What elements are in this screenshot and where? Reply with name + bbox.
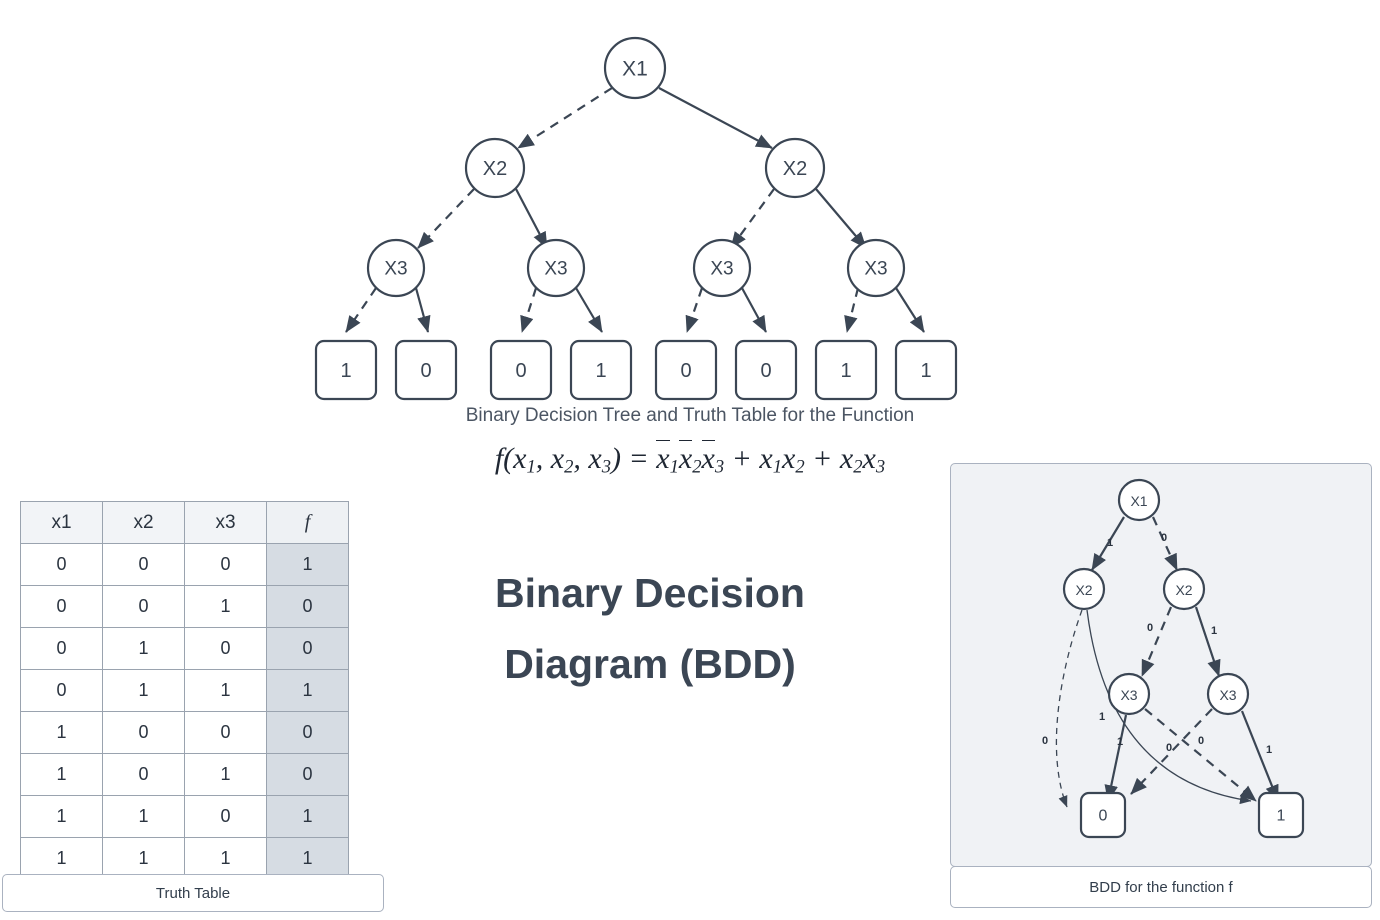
tree-edge-x3-2-leaf-2 xyxy=(522,288,536,332)
tree-edge-x3-4-leaf-6 xyxy=(847,288,858,332)
bdd-node-x1-label: X1 xyxy=(1130,493,1147,509)
bdd-edge-label-x3left-term0: 1 xyxy=(1117,736,1123,748)
tree-leaf-0-label: 1 xyxy=(340,360,351,382)
tree-node-x2-left-label: X2 xyxy=(483,158,507,180)
tree-leaf-4[interactable]: 0 xyxy=(656,341,716,399)
page-title-line-2: Diagram (BDD) xyxy=(420,629,880,700)
bdd-edge-x2right-x3right xyxy=(1196,607,1219,676)
bdd-node-x2-left[interactable]: X2 xyxy=(1064,569,1104,609)
cell-f: 1 xyxy=(267,670,349,712)
tree-leaf-2-label: 0 xyxy=(515,360,526,382)
tree-leaf-4-label: 0 xyxy=(680,360,691,382)
cell-x2: 0 xyxy=(103,754,185,796)
formula-plus-1: + xyxy=(732,442,752,475)
cell-f: 0 xyxy=(267,754,349,796)
cell-x3: 0 xyxy=(185,796,267,838)
cell-f: 1 xyxy=(267,796,349,838)
tree-leaf-5-label: 0 xyxy=(760,360,771,382)
tree-leaf-3-label: 1 xyxy=(595,360,606,382)
table-row: 0 0 0 1 xyxy=(21,544,349,586)
formula-fn: f xyxy=(495,442,503,476)
tree-leaf-7-label: 1 xyxy=(920,360,931,382)
bdd-edge-x2right-x3left xyxy=(1142,607,1171,676)
bdd-node-x2-left-label: X2 xyxy=(1075,582,1092,598)
formula-term3-v1: x2 xyxy=(840,442,863,479)
cell-x2: 0 xyxy=(103,586,185,628)
truth-table-header-x2: x2 xyxy=(103,502,185,544)
tree-edge-x2r-x3-3 xyxy=(731,189,774,248)
truth-table-caption-label: Truth Table xyxy=(156,885,230,902)
cell-x1: 0 xyxy=(21,628,103,670)
cell-x1: 0 xyxy=(21,586,103,628)
tree-edge-x2r-x3-4 xyxy=(816,189,866,248)
bdd-edge-label-x1-x2right: 0 xyxy=(1161,532,1167,544)
formula-term2-v1: x1 xyxy=(759,442,782,479)
bdd-edge-label-x2right-x3right: 1 xyxy=(1211,625,1217,637)
formula-open-paren: ( xyxy=(503,442,513,475)
cell-x3: 0 xyxy=(185,544,267,586)
bdd-edge-label-x3right-term1: 1 xyxy=(1266,744,1272,756)
cell-x3: 0 xyxy=(185,628,267,670)
tree-edge-x3-1-leaf-1 xyxy=(416,288,428,332)
formula-comma-1: , xyxy=(536,442,544,475)
tree-leaf-6-label: 1 xyxy=(840,360,851,382)
page-title-line-1: Binary Decision xyxy=(420,558,880,629)
cell-x2: 1 xyxy=(103,796,185,838)
table-row: 1 0 1 0 xyxy=(21,754,349,796)
cell-x1: 1 xyxy=(21,712,103,754)
tree-leaf-5[interactable]: 0 xyxy=(736,341,796,399)
tree-leaf-1-label: 0 xyxy=(420,360,431,382)
bdd-edge-x3right-term1 xyxy=(1242,711,1278,801)
tree-edge-x2l-x3-2 xyxy=(516,189,547,248)
tree-edge-x3-3-leaf-4 xyxy=(687,288,702,332)
tree-leaf-3[interactable]: 1 xyxy=(571,341,631,399)
tree-node-x1-label: X1 xyxy=(622,58,648,81)
table-row: 0 1 0 0 xyxy=(21,628,349,670)
tree-node-x3-4[interactable]: X3 xyxy=(848,240,904,296)
binary-decision-tree: X1 X2 X2 X3 X3 X3 X3 xyxy=(0,0,1380,440)
bdd-caption-bar: BDD for the function f xyxy=(950,866,1372,908)
cell-f: 0 xyxy=(267,712,349,754)
formula-close-paren: ) xyxy=(611,442,621,475)
truth-table: x1 x2 x3 f 0 0 0 1 0 0 1 0 0 1 0 xyxy=(20,501,349,880)
bdd-edge-x2left-term0 xyxy=(1056,610,1082,807)
bdd-edge-x3left-term0 xyxy=(1108,715,1126,801)
tree-node-x2-right[interactable]: X2 xyxy=(766,139,824,197)
bdd-caption-label: BDD for the function f xyxy=(1089,879,1232,896)
tree-node-x3-4-label: X3 xyxy=(864,259,887,280)
table-row: 1 0 0 0 xyxy=(21,712,349,754)
bdd-edge-label-x2left-term0: 0 xyxy=(1042,735,1048,747)
truth-table-container: x1 x2 x3 f 0 0 0 1 0 0 1 0 0 1 0 xyxy=(20,501,349,880)
tree-edge-x1-x2-left xyxy=(518,88,612,148)
truth-table-header-f: f xyxy=(267,502,349,544)
bdd-node-x3-right-label: X3 xyxy=(1219,687,1236,703)
bdd-node-x1[interactable]: X1 xyxy=(1119,480,1159,520)
bdd-edge-label-x3left-term1: 0 xyxy=(1166,742,1172,754)
formula-equals: = xyxy=(629,442,649,475)
bdd-terminal-1[interactable]: 1 xyxy=(1259,793,1303,837)
tree-leaf-1[interactable]: 0 xyxy=(396,341,456,399)
truth-table-caption-bar: Truth Table xyxy=(2,874,384,912)
tree-edge-x2l-x3-1 xyxy=(418,189,474,248)
formula-plus-2: + xyxy=(812,442,832,475)
formula-term2-v2: x2 xyxy=(782,442,805,479)
page-title: Binary Decision Diagram (BDD) xyxy=(420,558,880,699)
formula-arg-3: x3 xyxy=(588,442,611,479)
tree-edge-x3-3-leaf-5 xyxy=(742,288,766,332)
tree-node-x3-2-label: X3 xyxy=(544,259,567,280)
bdd-edge-label-x2left-term1: 1 xyxy=(1099,711,1105,723)
cell-x2: 0 xyxy=(103,712,185,754)
tree-edge-x1-x2-right xyxy=(659,88,772,148)
bdd-node-x3-left-label: X3 xyxy=(1120,687,1137,703)
cell-x1: 0 xyxy=(21,544,103,586)
cell-x3: 1 xyxy=(185,754,267,796)
bdd-terminal-1-label: 1 xyxy=(1277,808,1286,825)
bdd-svg: 1 0 0 1 0 1 1 0 0 1 X1 xyxy=(951,464,1371,866)
bdd-edge-label-x2right-x3left: 0 xyxy=(1147,622,1153,634)
tree-node-x3-3-label: X3 xyxy=(710,259,733,280)
tree-leaf-7[interactable]: 1 xyxy=(896,341,956,399)
tree-node-x3-2[interactable]: X3 xyxy=(528,240,584,296)
truth-table-header-x3: x3 xyxy=(185,502,267,544)
cell-x2: 1 xyxy=(103,670,185,712)
formula-term1-v2: x2 xyxy=(679,440,702,479)
cell-x3: 1 xyxy=(185,670,267,712)
bdd-node-x3-right[interactable]: X3 xyxy=(1208,674,1248,714)
cell-x3: 0 xyxy=(185,712,267,754)
table-row: 0 0 1 0 xyxy=(21,586,349,628)
tree-caption: Binary Decision Tree and Truth Table for… xyxy=(0,405,1380,427)
bdd-terminal-0[interactable]: 0 xyxy=(1081,793,1125,837)
tree-leaf-6[interactable]: 1 xyxy=(816,341,876,399)
tree-node-x2-left[interactable]: X2 xyxy=(466,139,524,197)
cell-x2: 0 xyxy=(103,544,185,586)
cell-f: 0 xyxy=(267,628,349,670)
bdd-edge-label-x3right-term0: 0 xyxy=(1198,735,1204,747)
bdd-node-x2-right-label: X2 xyxy=(1175,582,1192,598)
formula-term1-v3: x3 xyxy=(702,440,725,479)
bdd-terminal-0-label: 0 xyxy=(1099,808,1108,825)
tree-edge-x3-2-leaf-3 xyxy=(576,288,602,332)
tree-node-x3-1[interactable]: X3 xyxy=(368,240,424,296)
tree-node-x1[interactable]: X1 xyxy=(605,38,665,98)
formula-arg-1: x1 xyxy=(513,442,536,479)
truth-table-header-x1: x1 xyxy=(21,502,103,544)
bdd-node-x3-left[interactable]: X3 xyxy=(1109,674,1149,714)
tree-leaf-0[interactable]: 1 xyxy=(316,341,376,399)
tree-leaf-2[interactable]: 0 xyxy=(491,341,551,399)
formula-term3-v2: x3 xyxy=(863,442,886,479)
tree-node-x2-right-label: X2 xyxy=(783,158,807,180)
tree-svg: X1 X2 X2 X3 X3 X3 X3 xyxy=(0,0,1380,440)
tree-node-x3-3[interactable]: X3 xyxy=(694,240,750,296)
cell-f: 1 xyxy=(267,544,349,586)
bdd-node-x2-right[interactable]: X2 xyxy=(1164,569,1204,609)
cell-x3: 1 xyxy=(185,586,267,628)
cell-x1: 0 xyxy=(21,670,103,712)
tree-edge-x3-4-leaf-7 xyxy=(896,288,924,332)
bdd-panel: 1 0 0 1 0 1 1 0 0 1 X1 xyxy=(950,463,1372,867)
table-row: 0 1 1 1 xyxy=(21,670,349,712)
formula-term1-v1: x1 xyxy=(656,440,679,479)
tree-node-x3-1-label: X3 xyxy=(384,259,407,280)
table-row: 1 1 0 1 xyxy=(21,796,349,838)
cell-x1: 1 xyxy=(21,796,103,838)
formula-arg-2: x2 xyxy=(551,442,574,479)
tree-edge-x3-1-leaf-0 xyxy=(346,288,376,332)
cell-f: 0 xyxy=(267,586,349,628)
bdd-edge-label-x1-x2left: 1 xyxy=(1107,537,1113,549)
cell-x1: 1 xyxy=(21,754,103,796)
cell-x2: 1 xyxy=(103,628,185,670)
formula-comma-2: , xyxy=(573,442,581,475)
truth-table-header-row: x1 x2 x3 f xyxy=(21,502,349,544)
